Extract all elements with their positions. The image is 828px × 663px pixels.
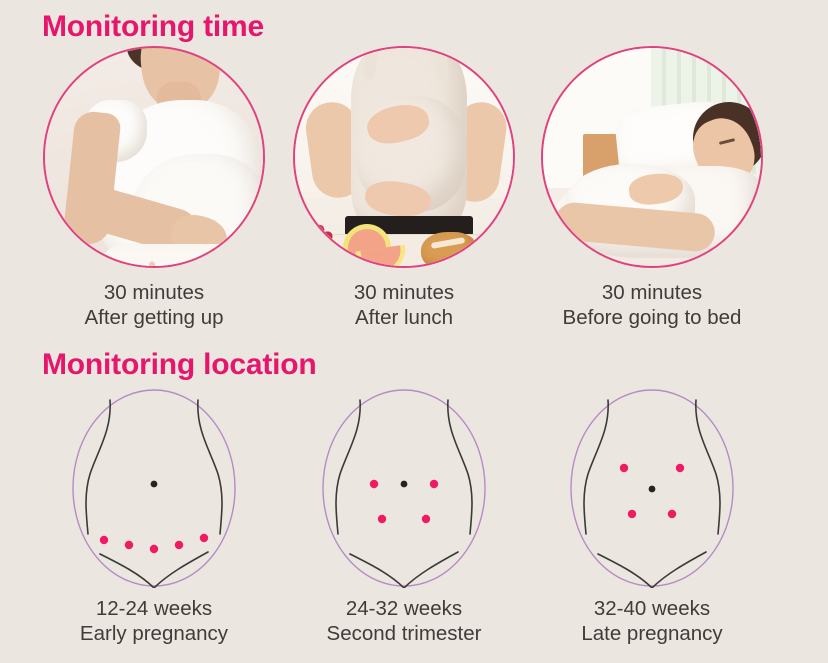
caption-line-1: 12-24 weeks xyxy=(22,596,286,621)
abdomen-diagram-svg xyxy=(292,388,516,588)
groin-line-right xyxy=(652,552,706,588)
monitoring-time-item-2: 30 minutes Before going to bed xyxy=(518,46,786,330)
section-title-monitoring-location: Monitoring location xyxy=(42,350,317,380)
measurement-dot xyxy=(378,515,386,523)
monitoring-location-item-1: 24-32 weeks Second trimester xyxy=(272,388,536,646)
abdomen-diagram-late-pregnancy xyxy=(540,388,764,588)
section-title-monitoring-time: Monitoring time xyxy=(42,12,264,42)
abdomen-diagram-svg xyxy=(42,388,266,588)
measurement-dot xyxy=(100,536,108,544)
body-contour-right xyxy=(448,400,472,534)
abdomen-diagram-svg xyxy=(540,388,764,588)
measurement-dot xyxy=(620,464,628,472)
measurement-dot xyxy=(628,510,636,518)
monitoring-time-item-1: 30 minutes After lunch xyxy=(272,46,536,330)
caption: 24-32 weeks Second trimester xyxy=(272,596,536,646)
caption-line-1: 30 minutes xyxy=(518,280,786,305)
navel-marker xyxy=(401,481,408,488)
pregnant-woman-lying-in-bed-photo xyxy=(541,46,763,268)
groin-line-right xyxy=(154,552,208,588)
caption-line-1: 32-40 weeks xyxy=(518,596,786,621)
caption: 32-40 weeks Late pregnancy xyxy=(518,596,786,646)
caption: 12-24 weeks Early pregnancy xyxy=(22,596,286,646)
caption: 30 minutes After getting up xyxy=(22,280,286,330)
measurement-dot xyxy=(430,480,438,488)
body-contour-right xyxy=(696,400,720,534)
caption-line-2: After lunch xyxy=(272,305,536,330)
diagram-outline-circle xyxy=(73,390,235,586)
caption-line-1: 24-32 weeks xyxy=(272,596,536,621)
navel-marker xyxy=(649,486,656,493)
caption-line-2: Before going to bed xyxy=(518,305,786,330)
photo-illustration xyxy=(295,48,513,266)
monitoring-location-item-0: 12-24 weeks Early pregnancy xyxy=(22,388,286,646)
infographic-page: Monitoring time 3 xyxy=(0,0,828,663)
groin-line-right xyxy=(404,552,458,588)
caption: 30 minutes Before going to bed xyxy=(518,280,786,330)
caption-line-1: 30 minutes xyxy=(22,280,286,305)
abdomen-diagram-second-trimester xyxy=(292,388,516,588)
caption-line-2: After getting up xyxy=(22,305,286,330)
caption-line-2: Late pregnancy xyxy=(518,621,786,646)
pregnant-woman-standing-photo xyxy=(43,46,265,268)
abdomen-diagram-early-pregnancy xyxy=(42,388,266,588)
measurement-dot xyxy=(668,510,676,518)
body-contour-left xyxy=(336,400,360,534)
photo-illustration xyxy=(543,48,761,266)
monitoring-time-row: 30 minutes After getting up xyxy=(0,46,828,306)
groin-line-left xyxy=(598,554,652,588)
measurement-dot xyxy=(676,464,684,472)
caption: 30 minutes After lunch xyxy=(272,280,536,330)
monitoring-location-item-2: 32-40 weeks Late pregnancy xyxy=(518,388,786,646)
groin-line-left xyxy=(100,554,154,588)
groin-line-left xyxy=(350,554,404,588)
measurement-dot xyxy=(150,545,158,553)
body-contour-left xyxy=(584,400,608,534)
measurement-dot xyxy=(125,541,133,549)
caption-line-2: Second trimester xyxy=(272,621,536,646)
navel-marker xyxy=(151,481,158,488)
monitoring-time-item-0: 30 minutes After getting up xyxy=(22,46,286,330)
caption-line-2: Early pregnancy xyxy=(22,621,286,646)
caption-line-1: 30 minutes xyxy=(272,280,536,305)
photo-illustration xyxy=(45,48,263,266)
measurement-dots xyxy=(100,534,208,553)
measurement-dot xyxy=(422,515,430,523)
pregnant-woman-after-lunch-photo xyxy=(293,46,515,268)
monitoring-location-row: 12-24 weeks Early pregnancy xyxy=(0,388,828,603)
measurement-dot xyxy=(200,534,208,542)
measurement-dot xyxy=(175,541,183,549)
measurement-dot xyxy=(370,480,378,488)
diagram-outline-circle xyxy=(323,390,485,586)
body-contour-right xyxy=(198,400,222,534)
body-contour-left xyxy=(86,400,110,534)
